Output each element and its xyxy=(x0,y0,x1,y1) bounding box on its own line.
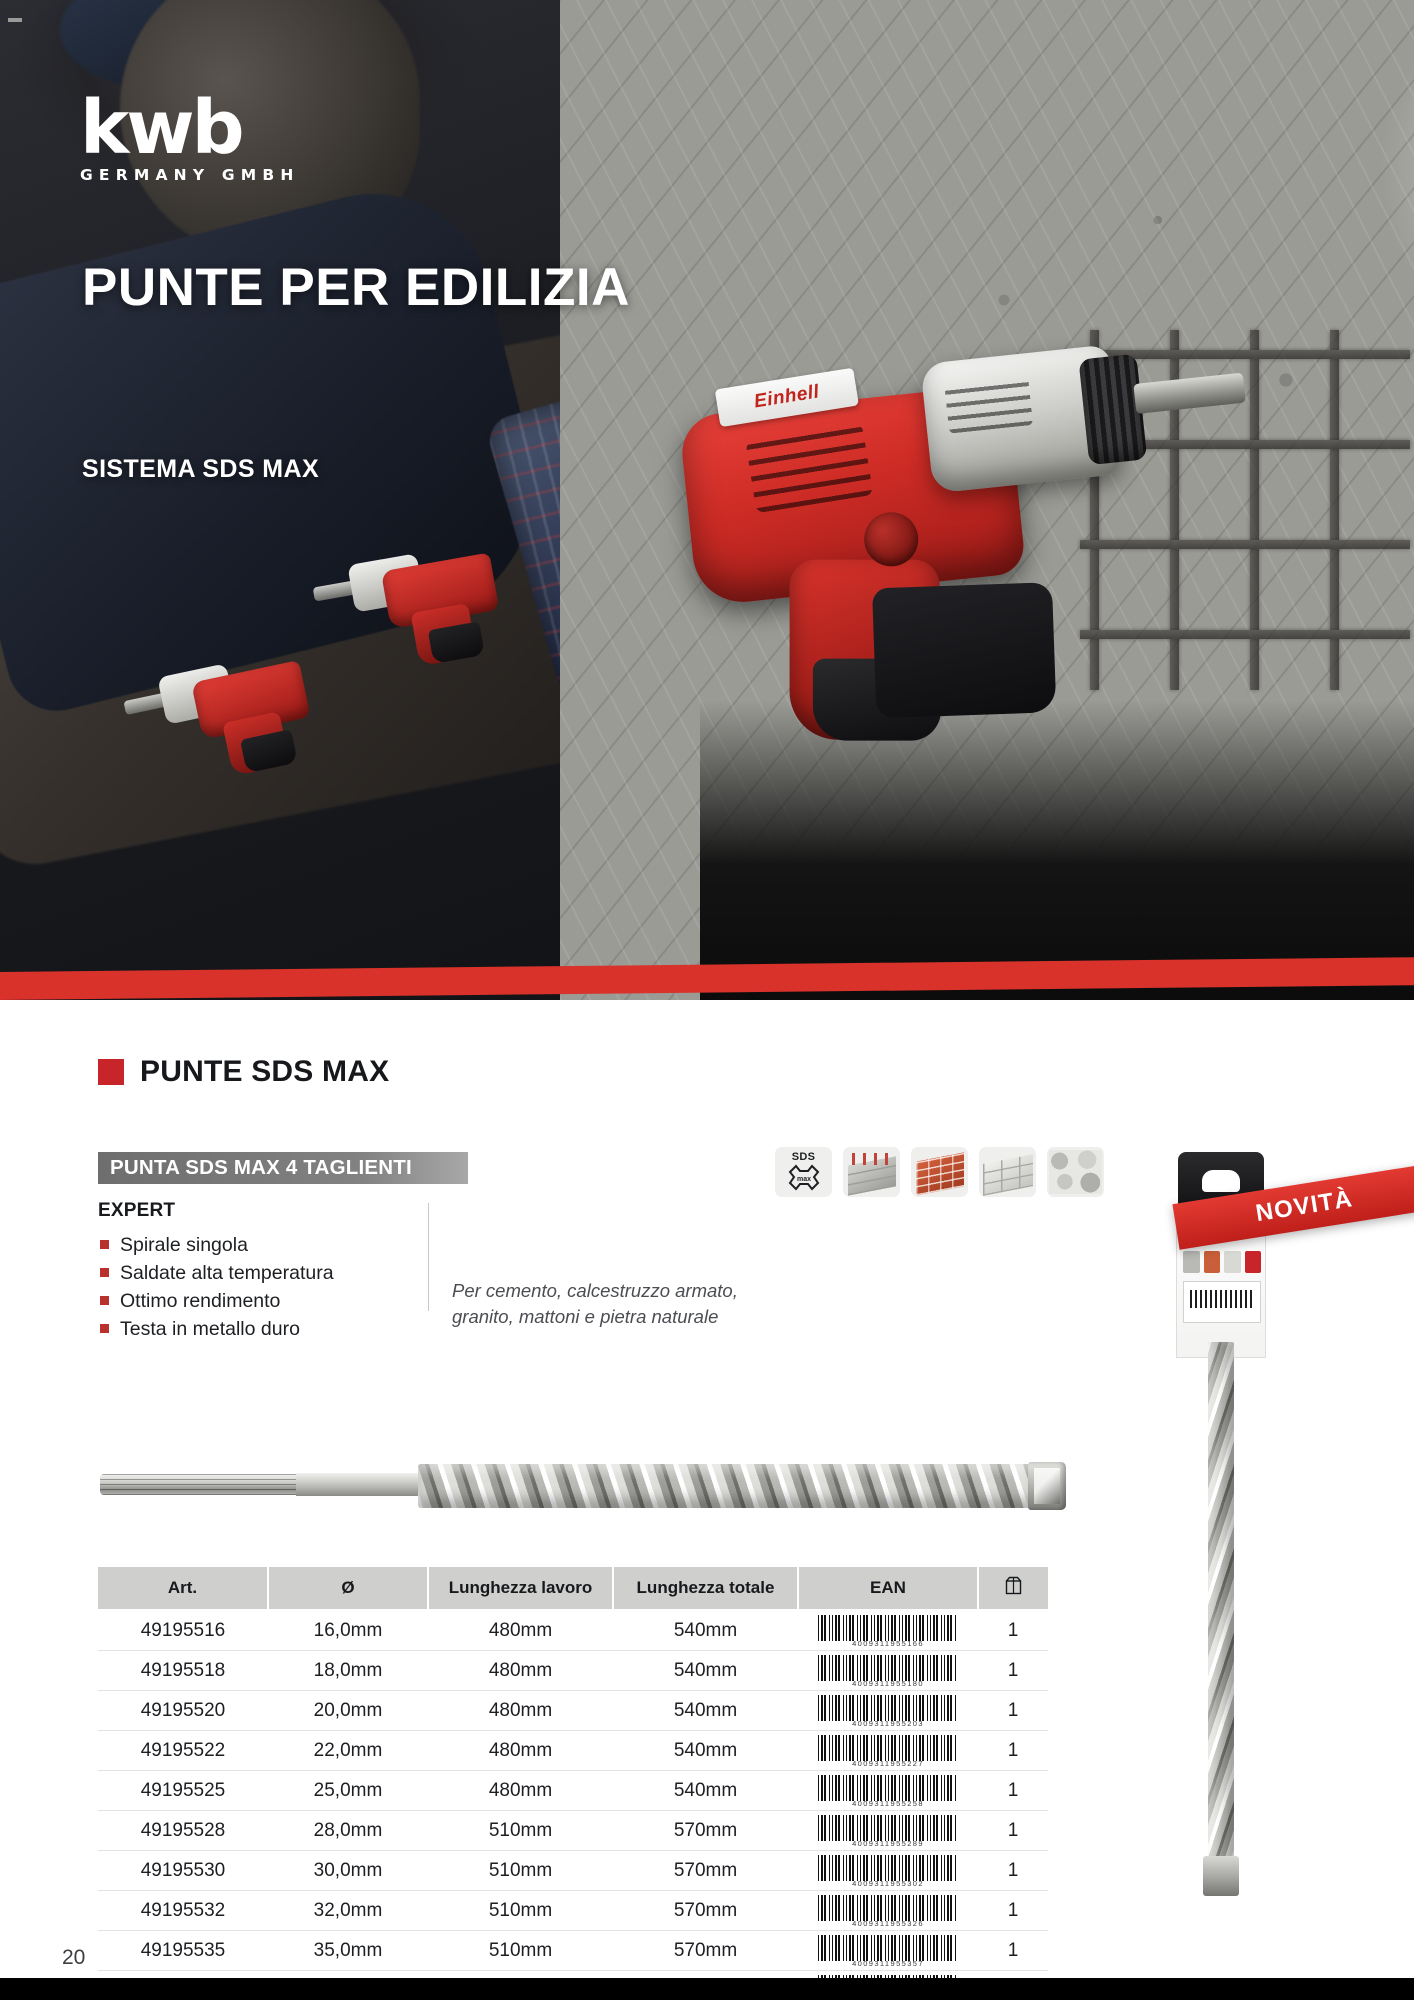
ean-digits: 4009311955289 xyxy=(798,1839,978,1848)
product-description: Per cemento, calcestruzzo armato, granit… xyxy=(452,1278,782,1331)
cell-ean: 4009311955289 xyxy=(798,1811,978,1851)
cell-packaging: 1 xyxy=(978,1851,1048,1891)
barcode-icon xyxy=(818,1935,958,1961)
cell-diameter: 22,0mm xyxy=(268,1731,428,1771)
cell-packaging: 1 xyxy=(978,1691,1048,1731)
cell-diameter: 35,0mm xyxy=(268,1931,428,1971)
cell-art: 49195535 xyxy=(98,1931,268,1971)
cell-ean: 4009311955302 xyxy=(798,1851,978,1891)
table-body: 49195516 16,0mm 480mm 540mm 400931195516… xyxy=(98,1610,1048,2000)
list-item: Ottimo rendimento xyxy=(100,1288,334,1316)
footer-bar xyxy=(0,1978,1414,2000)
cell-working-length: 510mm xyxy=(428,1931,613,1971)
product-table: Art. Ø Lunghezza lavoro Lunghezza totale… xyxy=(98,1567,1048,2000)
novita-label: NOVITÀ xyxy=(1254,1185,1355,1228)
cell-diameter: 20,0mm xyxy=(268,1691,428,1731)
barcode-icon xyxy=(818,1775,958,1801)
page-number: 20 xyxy=(62,1946,85,1970)
table-row: 49195525 25,0mm 480mm 540mm 400931195525… xyxy=(98,1771,1048,1811)
barcode-icon xyxy=(818,1695,958,1721)
cell-packaging: 1 xyxy=(978,1931,1048,1971)
column-header-art: Art. xyxy=(98,1567,268,1610)
cell-art: 49195516 xyxy=(98,1610,268,1651)
cell-total-length: 570mm xyxy=(613,1851,798,1891)
brick-icon xyxy=(911,1147,968,1197)
cell-art: 49195532 xyxy=(98,1891,268,1931)
cell-working-length: 480mm xyxy=(428,1651,613,1691)
cell-ean: 4009311955203 xyxy=(798,1691,978,1731)
block-masonry-icon xyxy=(979,1147,1036,1197)
rotary-hammer-main: Einhell xyxy=(669,274,1231,756)
cell-total-length: 540mm xyxy=(613,1771,798,1811)
table-row: 49195535 35,0mm 510mm 570mm 400931195535… xyxy=(98,1931,1048,1971)
column-header-diameter: Ø xyxy=(268,1567,428,1610)
barcode-icon xyxy=(818,1895,958,1921)
packaged-bit-tip xyxy=(1203,1856,1239,1896)
barcode-icon xyxy=(818,1735,958,1761)
cell-total-length: 540mm xyxy=(613,1610,798,1651)
quality-label: EXPERT xyxy=(98,1200,175,1222)
ean-digits: 4009311955258 xyxy=(798,1799,978,1808)
cell-working-length: 480mm xyxy=(428,1771,613,1811)
table-row: 49195532 32,0mm 510mm 570mm 400931195532… xyxy=(98,1891,1048,1931)
bullet-icon xyxy=(100,1324,109,1333)
ean-digits: 4009311955326 xyxy=(798,1919,978,1928)
barcode-icon xyxy=(818,1655,958,1681)
feature-text: Spirale singola xyxy=(120,1232,248,1260)
cell-art: 49195522 xyxy=(98,1731,268,1771)
feature-text: Ottimo rendimento xyxy=(120,1288,280,1316)
table-row: 49195520 20,0mm 480mm 540mm 400931195520… xyxy=(98,1691,1048,1731)
logo-subtitle: GERMANY GMBH xyxy=(80,166,300,184)
vertical-divider xyxy=(428,1203,429,1311)
package-barcode-area xyxy=(1183,1281,1261,1323)
cell-total-length: 540mm xyxy=(613,1651,798,1691)
cell-packaging: 1 xyxy=(978,1610,1048,1651)
table-header-row: Art. Ø Lunghezza lavoro Lunghezza totale… xyxy=(98,1567,1048,1610)
cell-working-length: 480mm xyxy=(428,1610,613,1651)
drill-brand-text: Einhell xyxy=(753,381,821,413)
barcode-icon xyxy=(818,1815,958,1841)
cell-art: 49195528 xyxy=(98,1811,268,1851)
cell-packaging: 1 xyxy=(978,1651,1048,1691)
table-row: 49195516 16,0mm 480mm 540mm 400931195516… xyxy=(98,1610,1048,1651)
cell-ean: 4009311955357 xyxy=(798,1931,978,1971)
sds-max-glyph: max xyxy=(786,1164,822,1192)
cell-art: 49195525 xyxy=(98,1771,268,1811)
sds-max-icon: SDS max xyxy=(775,1147,832,1197)
cell-total-length: 540mm xyxy=(613,1691,798,1731)
packaged-drill-bit xyxy=(1208,1342,1234,1902)
hero-title: PUNTE PER EDILIZIA xyxy=(82,258,630,317)
cell-total-length: 570mm xyxy=(613,1891,798,1931)
ean-digits: 4009311955166 xyxy=(798,1639,978,1648)
hero-subtitle: SISTEMA SDS MAX xyxy=(82,455,319,484)
cell-ean: 4009311955166 xyxy=(798,1610,978,1651)
kwb-logo: kwb GERMANY GMBH xyxy=(80,95,300,184)
ean-digits: 4009311955227 xyxy=(798,1759,978,1768)
packaged-product: kwb NOVITÀ xyxy=(1146,1152,1296,1902)
packaged-bit-flute xyxy=(1208,1342,1234,1862)
bit-shaft xyxy=(296,1473,426,1496)
cell-total-length: 570mm xyxy=(613,1811,798,1851)
table-row: 49195522 22,0mm 480mm 540mm 400931195522… xyxy=(98,1731,1048,1771)
list-item: Testa in metallo duro xyxy=(100,1316,334,1344)
bullet-icon xyxy=(100,1240,109,1249)
ean-digits: 4009311955357 xyxy=(798,1959,978,1968)
feature-text: Testa in metallo duro xyxy=(120,1316,300,1344)
table-row: 49195518 18,0mm 480mm 540mm 400931195518… xyxy=(98,1651,1048,1691)
barcode-icon xyxy=(818,1855,958,1881)
feature-text: Saldate alta temperatura xyxy=(120,1260,334,1288)
cell-total-length: 570mm xyxy=(613,1931,798,1971)
cell-art: 49195530 xyxy=(98,1851,268,1891)
cell-packaging: 1 xyxy=(978,1771,1048,1811)
cell-working-length: 510mm xyxy=(428,1891,613,1931)
svg-text:max: max xyxy=(796,1176,810,1183)
bullet-icon xyxy=(100,1296,109,1305)
material-icon-group: SDS max xyxy=(775,1147,1104,1197)
bit-helical-flute xyxy=(418,1464,1038,1508)
table-row: 49195528 28,0mm 510mm 570mm 400931195528… xyxy=(98,1811,1048,1851)
feature-list: Spirale singola Saldate alta temperatura… xyxy=(100,1232,334,1344)
ean-digits: 4009311955302 xyxy=(798,1879,978,1888)
cell-working-length: 510mm xyxy=(428,1811,613,1851)
package-box-icon xyxy=(1005,1576,1022,1600)
product-title-bar: PUNTA SDS MAX 4 TAGLIENTI xyxy=(98,1152,468,1184)
cell-packaging: 1 xyxy=(978,1811,1048,1851)
cell-diameter: 32,0mm xyxy=(268,1891,428,1931)
section-heading: PUNTE SDS MAX xyxy=(98,1055,389,1089)
column-header-total-length: Lunghezza totale xyxy=(613,1567,798,1610)
product-title-text: PUNTA SDS MAX 4 TAGLIENTI xyxy=(98,1156,412,1180)
ean-digits: 4009311955203 xyxy=(798,1719,978,1728)
section-heading-text: PUNTE SDS MAX xyxy=(140,1055,389,1089)
sds-shank xyxy=(100,1474,300,1495)
cell-packaging: 1 xyxy=(978,1891,1048,1931)
cell-ean: 4009311955180 xyxy=(798,1651,978,1691)
list-item: Saldate alta temperatura xyxy=(100,1260,334,1288)
ean-digits: 4009311955180 xyxy=(798,1679,978,1688)
cell-total-length: 540mm xyxy=(613,1731,798,1771)
cell-ean: 4009311955227 xyxy=(798,1731,978,1771)
cell-working-length: 510mm xyxy=(428,1851,613,1891)
cell-ean: 4009311955326 xyxy=(798,1891,978,1931)
cell-diameter: 16,0mm xyxy=(268,1610,428,1651)
cell-packaging: 1 xyxy=(978,1731,1048,1771)
catalog-page: Einhell kwb GERMANY GMBH PUNTE PER EDILI… xyxy=(0,0,1414,2000)
cell-diameter: 30,0mm xyxy=(268,1851,428,1891)
bit-carbide-tip xyxy=(1028,1462,1066,1510)
logo-wordmark: kwb xyxy=(80,95,300,162)
cell-working-length: 480mm xyxy=(428,1731,613,1771)
cell-art: 49195518 xyxy=(98,1651,268,1691)
cell-diameter: 25,0mm xyxy=(268,1771,428,1811)
package-swatches xyxy=(1183,1251,1261,1273)
barcode-icon xyxy=(818,1615,958,1641)
cell-working-length: 480mm xyxy=(428,1691,613,1731)
list-item: Spirale singola xyxy=(100,1232,334,1260)
red-square-marker xyxy=(98,1059,124,1085)
column-header-ean: EAN xyxy=(798,1567,978,1610)
hero-banner: Einhell kwb GERMANY GMBH PUNTE PER EDILI… xyxy=(0,0,1414,1000)
natural-stone-icon xyxy=(1047,1147,1104,1197)
bullet-icon xyxy=(100,1268,109,1277)
column-header-packaging xyxy=(978,1567,1048,1610)
cell-art: 49195520 xyxy=(98,1691,268,1731)
table-row: 49195530 30,0mm 510mm 570mm 400931195530… xyxy=(98,1851,1048,1891)
cell-diameter: 18,0mm xyxy=(268,1651,428,1691)
cell-ean: 4009311955258 xyxy=(798,1771,978,1811)
cell-diameter: 28,0mm xyxy=(268,1811,428,1851)
drill-bit-illustration xyxy=(100,1440,1060,1525)
sds-label: SDS xyxy=(792,1152,816,1163)
column-header-working-length: Lunghezza lavoro xyxy=(428,1567,613,1610)
reinforced-concrete-icon xyxy=(843,1147,900,1197)
crop-tick-mark xyxy=(8,18,22,22)
